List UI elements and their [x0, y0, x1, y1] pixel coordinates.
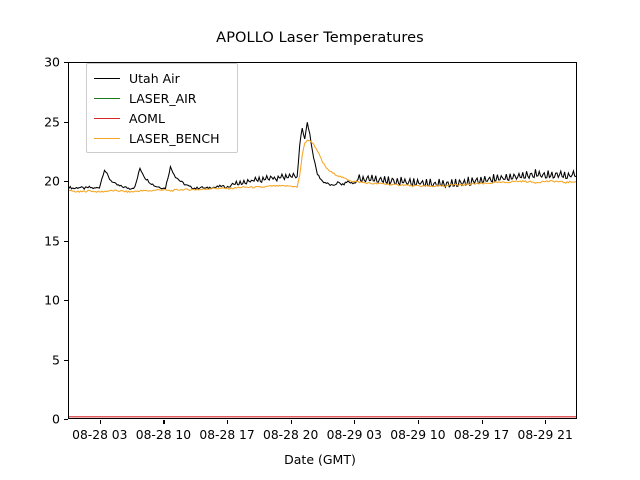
x-tick-label: 08-28 10 [136, 428, 191, 442]
x-axis-label: Date (GMT) [0, 452, 640, 467]
x-tick-label: 08-29 17 [454, 428, 509, 442]
x-tick-label: 08-28 17 [199, 428, 254, 442]
legend-color-swatch [94, 78, 120, 79]
matplotlib-figure: APOLLO Laser Temperatures Temperature (C… [0, 0, 640, 480]
legend-color-swatch [94, 98, 120, 99]
legend-item[interactable]: Utah Air [87, 68, 237, 88]
x-tick-mark [163, 420, 164, 424]
chart-legend: Utah AirLASER_AIRAOMLLASER_BENCH [86, 63, 238, 153]
legend-item-label: LASER_BENCH [129, 131, 220, 146]
x-tick-label: 08-29 03 [327, 428, 382, 442]
page-title: APOLLO Laser Temperatures [0, 30, 640, 46]
legend-item[interactable]: LASER_BENCH [87, 128, 237, 148]
legend-color-swatch [94, 138, 120, 139]
y-tick-label: 20 [0, 174, 60, 189]
legend-color-swatch [94, 118, 120, 119]
y-tick-label: 25 [0, 114, 60, 129]
legend-item-label: AOML [129, 111, 165, 126]
x-tick-label: 08-29 21 [518, 428, 573, 442]
x-tick-label: 08-29 10 [390, 428, 445, 442]
x-tick-mark [418, 420, 419, 424]
x-tick-mark [354, 420, 355, 424]
y-tick-label: 15 [0, 233, 60, 248]
legend-item-label: Utah Air [129, 71, 180, 86]
x-tick-label: 08-28 20 [263, 428, 318, 442]
y-tick-label: 10 [0, 293, 60, 308]
legend-item-label: LASER_AIR [129, 91, 197, 106]
x-tick-label: 08-28 03 [72, 428, 127, 442]
x-tick-mark [227, 420, 228, 424]
legend-item[interactable]: LASER_AIR [87, 88, 237, 108]
legend-item[interactable]: AOML [87, 108, 237, 128]
x-tick-mark [291, 420, 292, 424]
x-tick-mark [100, 420, 101, 424]
x-tick-mark [482, 420, 483, 424]
x-tick-mark [545, 420, 546, 424]
y-tick-label: 5 [0, 352, 60, 367]
y-tick-label: 0 [0, 412, 60, 427]
y-tick-label: 30 [0, 55, 60, 70]
y-tick-mark [64, 419, 68, 420]
